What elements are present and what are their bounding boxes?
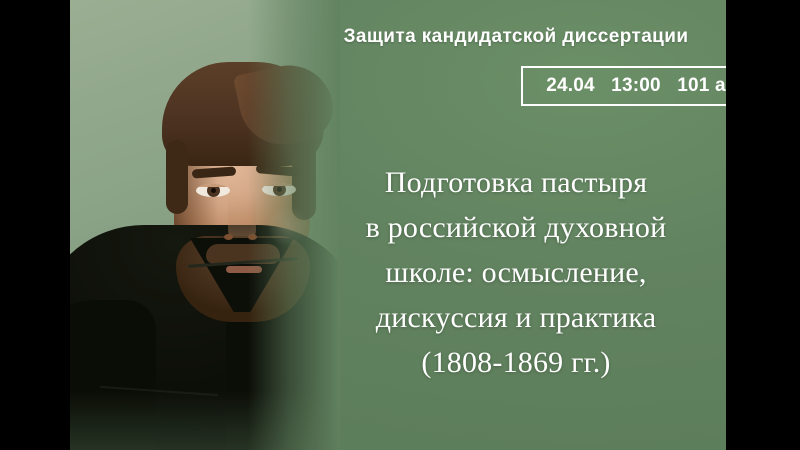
presentation-slide: Защита кандидатской диссертации 24.04 13… bbox=[0, 0, 800, 450]
title-line-5: (1808-1869 гг.) bbox=[300, 340, 726, 385]
event-details-text: 24.04 13:00 101 ауд. bbox=[546, 75, 726, 97]
slide-title: Подготовка пастыря в российской духовной… bbox=[300, 160, 726, 385]
eye-left bbox=[196, 184, 230, 197]
photo-edge-fade-bottom bbox=[70, 390, 340, 450]
event-details-box: 24.04 13:00 101 ауд. bbox=[521, 66, 726, 106]
slide-text-column: Защита кандидатской диссертации 24.04 13… bbox=[306, 0, 726, 450]
title-line-4: дискуссия и практика bbox=[300, 295, 726, 340]
letterbox-bar-right bbox=[726, 0, 800, 450]
title-line-1: Подготовка пастыря bbox=[300, 160, 726, 205]
title-line-2: в российской духовной bbox=[300, 205, 726, 250]
title-line-3: школе: осмысление, bbox=[300, 250, 726, 295]
slide-kicker: Защита кандидатской диссертации bbox=[306, 26, 726, 48]
sideburn-left bbox=[166, 140, 188, 214]
slide-canvas: Защита кандидатской диссертации 24.04 13… bbox=[70, 0, 726, 450]
eyelid-left bbox=[196, 184, 230, 187]
nostril-left bbox=[224, 234, 233, 240]
letterbox-bar-left bbox=[0, 0, 70, 450]
